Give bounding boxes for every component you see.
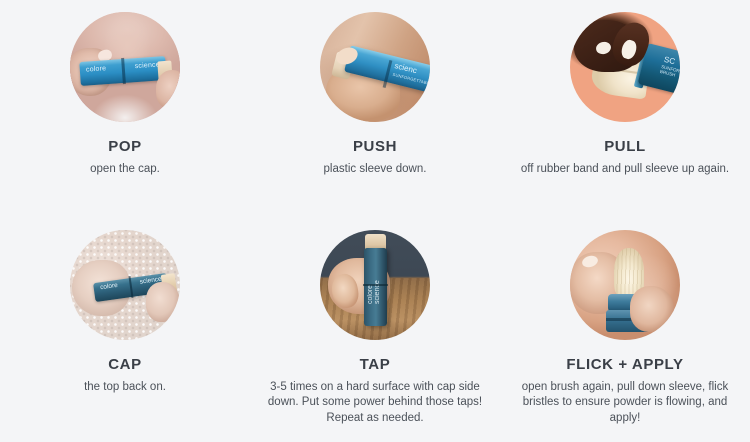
hand-right-fingers [630,286,674,332]
step-push-caption: PUSH plastic sleeve down. [250,122,500,177]
step-pull-photo: SC SUNFORGETTABLE BRUSH [570,12,680,122]
step-pop: colore science POP open the cap. [0,0,250,222]
step-description: the top back on. [0,380,250,396]
step-pull-caption: PULL off rubber band and pull sleeve up … [500,122,750,177]
brand-word-left: colore [86,65,107,75]
step-pop-photo: colore science [70,12,180,122]
step-pop-caption: POP open the cap. [0,122,250,177]
step-description: plastic sleeve down. [250,162,500,178]
product-seam-line [363,284,388,286]
brand-word-right: science [135,61,161,72]
step-flick-apply-photo [570,230,680,340]
step-flick-apply-caption: FLICK + APPLY open brush again, pull dow… [500,340,750,426]
step-title: CAP [0,357,250,374]
step-push-photo: scienc SUNFORGETTABLE [320,12,430,122]
how-to-use-steps-grid: colore science POP open the cap. scienc … [0,0,750,442]
step-flick-apply: FLICK + APPLY open brush again, pull dow… [500,222,750,442]
step-tap-photo: colore science [320,230,430,340]
step-tap: colore science TAP 3-5 times on a hard s… [250,222,500,442]
step-cap-caption: CAP the top back on. [0,340,250,395]
step-description: open brush again, pull down sleeve, flic… [500,380,750,427]
step-description: open the cap. [0,162,250,178]
step-description: 3-5 times on a hard surface with cap sid… [250,380,500,427]
step-title: POP [0,139,250,156]
product-brand-label: colore science [367,260,377,304]
step-title: PUSH [250,139,500,156]
hand-right-fingers [146,282,180,322]
step-tap-caption: TAP 3-5 times on a hard surface with cap… [250,340,500,426]
step-title: PULL [500,139,750,156]
step-description: off rubber band and pull sleeve up again… [500,162,750,178]
step-title: FLICK + APPLY [500,357,750,374]
step-cap-photo: colore science [70,230,180,340]
step-title: TAP [250,357,500,374]
hand-right-fingers [156,70,180,110]
step-cap: colore science CAP the top back on. [0,222,250,442]
step-pull: SC SUNFORGETTABLE BRUSH PULL off rubber … [500,0,750,222]
step-push: scienc SUNFORGETTABLE PUSH plastic sleev… [250,0,500,222]
